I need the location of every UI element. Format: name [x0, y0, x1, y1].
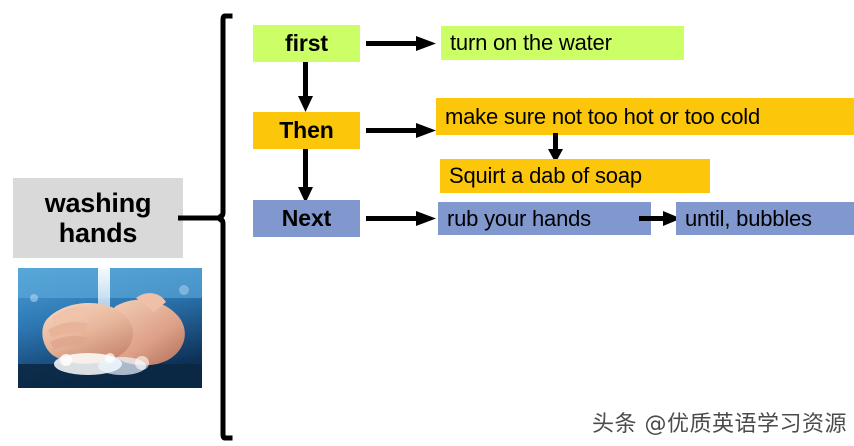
step-detail-text: turn on the water	[450, 30, 612, 56]
step-label-text: Then	[279, 117, 334, 144]
diagram-canvas: washing hands	[0, 0, 854, 446]
step-label-first: first	[253, 25, 360, 62]
step-detail-not-too-hot-or-cold: make sure not too hot or too cold	[436, 98, 854, 135]
step-label-next: Next	[253, 200, 360, 237]
step-label-text: first	[285, 30, 328, 57]
washing-hands-photo	[18, 268, 202, 388]
step-detail-text: rub your hands	[447, 206, 591, 232]
step-detail-turn-on-water: turn on the water	[441, 26, 684, 60]
arrow-detail-to-continuation	[639, 209, 681, 229]
topic-line-1: washing	[45, 188, 152, 218]
step-continuation-text: until, bubbles	[685, 206, 812, 232]
arrow-then-to-detail	[366, 121, 436, 141]
step-detail-text: make sure not too hot or too cold	[445, 104, 760, 130]
topic-box: washing hands	[13, 178, 183, 258]
arrow-next-to-detail	[366, 209, 436, 229]
step-continuation-until-bubbles: until, bubbles	[676, 202, 854, 235]
watermark: 头条 @优质英语学习资源	[592, 406, 847, 438]
grouping-bracket	[178, 6, 248, 446]
step-detail-rub-your-hands: rub your hands	[438, 202, 651, 235]
topic-line-2: hands	[59, 218, 138, 248]
arrow-first-to-detail	[366, 34, 436, 54]
step-label-then: Then	[253, 112, 360, 149]
arrow-then-to-next	[296, 149, 316, 203]
step-subdetail-text: Squirt a dab of soap	[449, 163, 642, 189]
step-subdetail-squirt-soap: Squirt a dab of soap	[440, 159, 710, 193]
step-label-text: Next	[282, 205, 331, 232]
arrow-first-to-then	[296, 62, 316, 112]
